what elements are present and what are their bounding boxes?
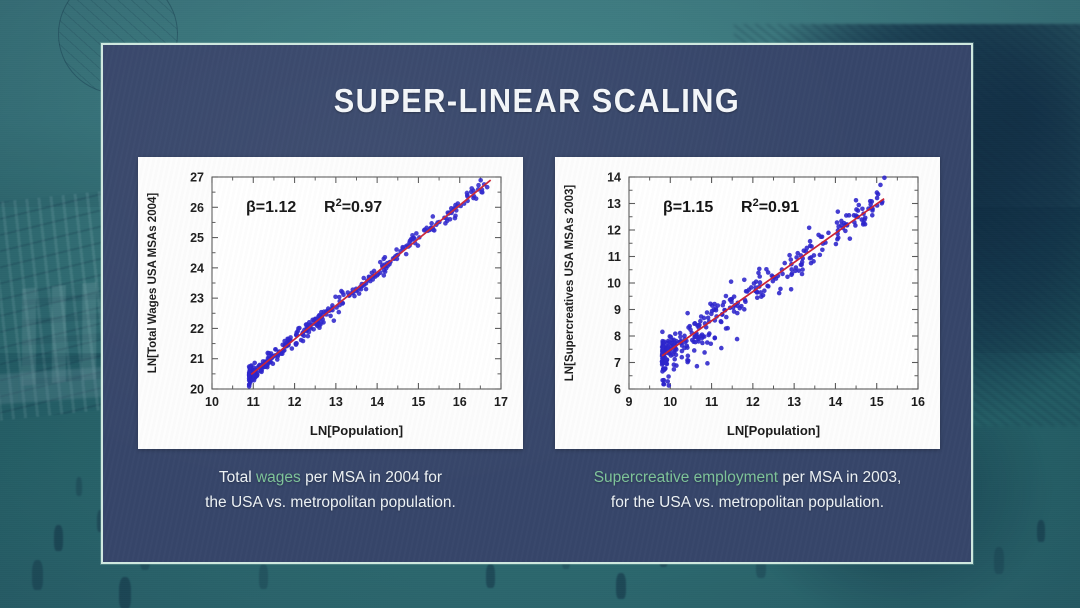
page-title: SUPER-LINEAR SCALING [133, 82, 940, 120]
svg-text:LN[Total Wages USA MSAs 2004]: LN[Total Wages USA MSAs 2004] [147, 193, 159, 374]
svg-text:16: 16 [911, 395, 925, 409]
svg-text:12: 12 [288, 395, 302, 409]
svg-text:24: 24 [190, 261, 204, 275]
caption-wages-post: per MSA in 2004 for [301, 469, 442, 486]
svg-text:23: 23 [190, 292, 204, 306]
svg-text:16: 16 [453, 395, 467, 409]
caption-wages-highlight: wages [256, 469, 301, 486]
svg-text:LN[Supercreatives USA MSAs 200: LN[Supercreatives USA MSAs 2003] [564, 185, 576, 382]
svg-text:8: 8 [614, 330, 621, 344]
svg-text:R2=0.97: R2=0.97 [324, 197, 382, 216]
svg-text:14: 14 [607, 171, 621, 185]
svg-text:R2=0.91: R2=0.91 [741, 197, 799, 216]
svg-text:11: 11 [705, 395, 718, 409]
svg-text:7: 7 [614, 356, 621, 370]
svg-text:27: 27 [190, 171, 204, 185]
svg-text:β=1.12: β=1.12 [246, 199, 296, 216]
svg-text:11: 11 [247, 395, 260, 409]
svg-text:15: 15 [411, 395, 425, 409]
svg-text:25: 25 [190, 231, 204, 245]
svg-text:10: 10 [607, 277, 621, 291]
svg-text:17: 17 [494, 395, 508, 409]
scatter-chart-wages: 10111213141516172021222324252627LN[Popul… [138, 157, 523, 449]
figure-wages: 10111213141516172021222324252627LN[Popul… [138, 157, 523, 449]
svg-text:14: 14 [370, 395, 384, 409]
svg-text:11: 11 [608, 250, 621, 264]
slide-panel: SUPER-LINEAR SCALING 1011121314151617202… [101, 43, 973, 564]
caption-wages: Total wages per MSA in 2004 for the USA … [138, 465, 523, 515]
svg-text:12: 12 [746, 395, 760, 409]
chart-panel-supercreatives: 91011121314151667891011121314LN[Populati… [555, 157, 940, 449]
svg-text:6: 6 [614, 383, 621, 397]
svg-text:26: 26 [190, 201, 204, 215]
svg-text:21: 21 [190, 352, 204, 366]
svg-text:13: 13 [607, 197, 621, 211]
svg-text:15: 15 [870, 395, 884, 409]
svg-text:10: 10 [205, 395, 219, 409]
caption-supercreatives-post: per MSA in 2003, [778, 469, 901, 486]
caption-wages-line2: the USA vs. metropolitan population. [138, 490, 523, 515]
caption-supercreatives-line1: Supercreative employment per MSA in 2003… [555, 465, 940, 490]
caption-wages-line1: Total wages per MSA in 2004 for [138, 465, 523, 490]
svg-text:β=1.15: β=1.15 [663, 199, 713, 216]
chart-panel-wages: 10111213141516172021222324252627LN[Popul… [138, 157, 523, 449]
scatter-chart-supercreatives: 91011121314151667891011121314LN[Populati… [555, 157, 940, 449]
caption-supercreatives-highlight: Supercreative employment [594, 469, 778, 486]
svg-text:LN[Population]: LN[Population] [727, 423, 820, 438]
svg-text:10: 10 [663, 395, 677, 409]
svg-text:9: 9 [614, 303, 621, 317]
caption-supercreatives: Supercreative employment per MSA in 2003… [555, 465, 940, 515]
svg-text:13: 13 [329, 395, 343, 409]
svg-text:14: 14 [828, 395, 842, 409]
caption-supercreatives-line2: for the USA vs. metropolitan population. [555, 490, 940, 515]
svg-text:12: 12 [607, 224, 621, 238]
svg-text:LN[Population]: LN[Population] [310, 423, 403, 438]
svg-text:22: 22 [190, 322, 204, 336]
svg-text:9: 9 [626, 395, 633, 409]
svg-text:20: 20 [190, 383, 204, 397]
svg-text:13: 13 [787, 395, 801, 409]
caption-wages-pre: Total [219, 469, 256, 486]
figure-supercreatives: 91011121314151667891011121314LN[Populati… [555, 157, 940, 449]
